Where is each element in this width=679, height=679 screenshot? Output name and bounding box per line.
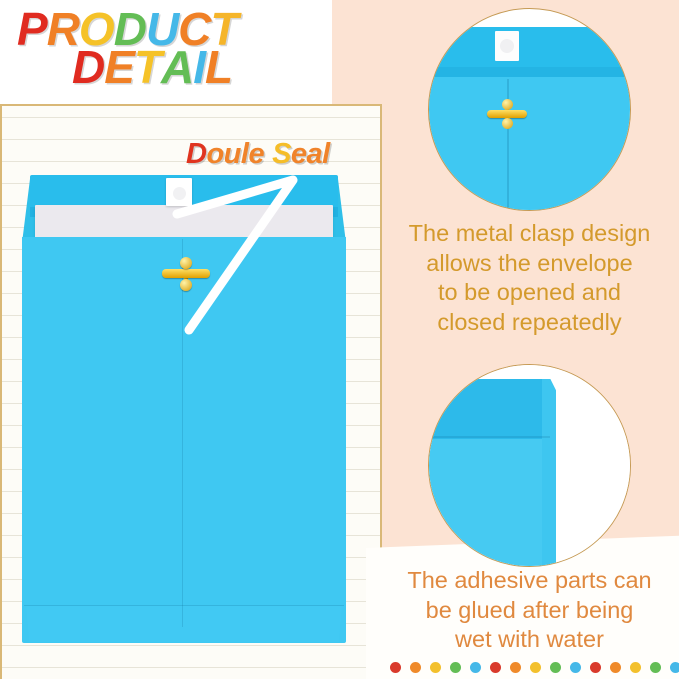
title-letter-l-5: L	[205, 44, 232, 90]
caption-adhesive-line-1: be glued after being	[380, 596, 679, 626]
title-letter-i-4: I	[193, 44, 205, 90]
caption-clasp-line-0: The metal clasp design	[380, 219, 679, 249]
product-detail-infographic: PRODUCT DETAIL Doule Seal	[0, 0, 679, 679]
circle1-white-tab	[495, 31, 519, 61]
decorative-dot	[630, 662, 641, 673]
panel-divider	[0, 104, 2, 679]
seal-label-part-3: S	[272, 138, 291, 171]
doule-seal-label: Doule Seal	[186, 138, 330, 171]
circle1-metal-clasp-icon	[487, 99, 527, 129]
pointer-arrow-icon	[165, 172, 310, 337]
circle1-flap-shadow	[429, 67, 630, 77]
detail-circle-adhesive	[428, 364, 631, 567]
decorative-dot	[590, 662, 601, 673]
circle1-clasp-knob-top	[502, 99, 513, 110]
title-letter-d-0: D	[72, 44, 104, 90]
title-letter-a-3: A	[161, 44, 193, 90]
paper-rule-line	[0, 117, 380, 118]
seal-label-part-0: D	[186, 138, 206, 171]
circle1-clasp-knob-bottom	[502, 118, 513, 129]
decorative-dot	[410, 662, 421, 673]
paper-rule-line	[0, 645, 380, 646]
circle1-envelope-body	[429, 77, 630, 210]
envelope-bottom-panel	[26, 606, 342, 642]
title-letter-p-0: P	[17, 6, 47, 52]
title-letter-e-1: E	[104, 44, 134, 90]
seal-label-part-1: oule	[206, 138, 264, 171]
caption-adhesive-line-0: The adhesive parts can	[380, 566, 679, 596]
circle1-clasp-bar	[487, 110, 527, 118]
decorative-dot	[450, 662, 461, 673]
caption-clasp: The metal clasp designallows the envelop…	[380, 219, 679, 337]
title-line-detail: DETAIL	[72, 44, 232, 90]
seal-label-part-4: eal	[291, 138, 330, 171]
decorative-dot	[670, 662, 679, 673]
decorative-dot	[530, 662, 541, 673]
circle2-right-edge	[542, 379, 556, 567]
decorative-dot	[570, 662, 581, 673]
decorative-dot	[550, 662, 561, 673]
caption-adhesive: The adhesive parts canbe glued after bei…	[380, 566, 679, 655]
paper-rule-line	[0, 667, 380, 668]
title-letter-t-2: T	[134, 44, 161, 90]
caption-clasp-line-2: to be opened and	[380, 278, 679, 308]
decorative-dot	[650, 662, 661, 673]
detail-circle-clasp	[428, 8, 631, 211]
page-title: PRODUCT DETAIL	[0, 0, 332, 104]
circle2-lower-panel	[429, 437, 550, 567]
circle2-fold-line	[429, 436, 550, 438]
decorative-dot-row	[380, 655, 679, 679]
decorative-dot	[490, 662, 501, 673]
caption-clasp-line-3: closed repeatedly	[380, 308, 679, 338]
decorative-dot	[510, 662, 521, 673]
caption-adhesive-line-2: wet with water	[380, 625, 679, 655]
caption-clasp-line-1: allows the envelope	[380, 249, 679, 279]
decorative-dot	[390, 662, 401, 673]
envelope-bottom-fold	[24, 605, 344, 606]
decorative-dot	[470, 662, 481, 673]
decorative-dot	[430, 662, 441, 673]
decorative-dot	[610, 662, 621, 673]
right-detail-column: The metal clasp designallows the envelop…	[380, 0, 679, 679]
circle2-upper-flap	[429, 379, 550, 439]
